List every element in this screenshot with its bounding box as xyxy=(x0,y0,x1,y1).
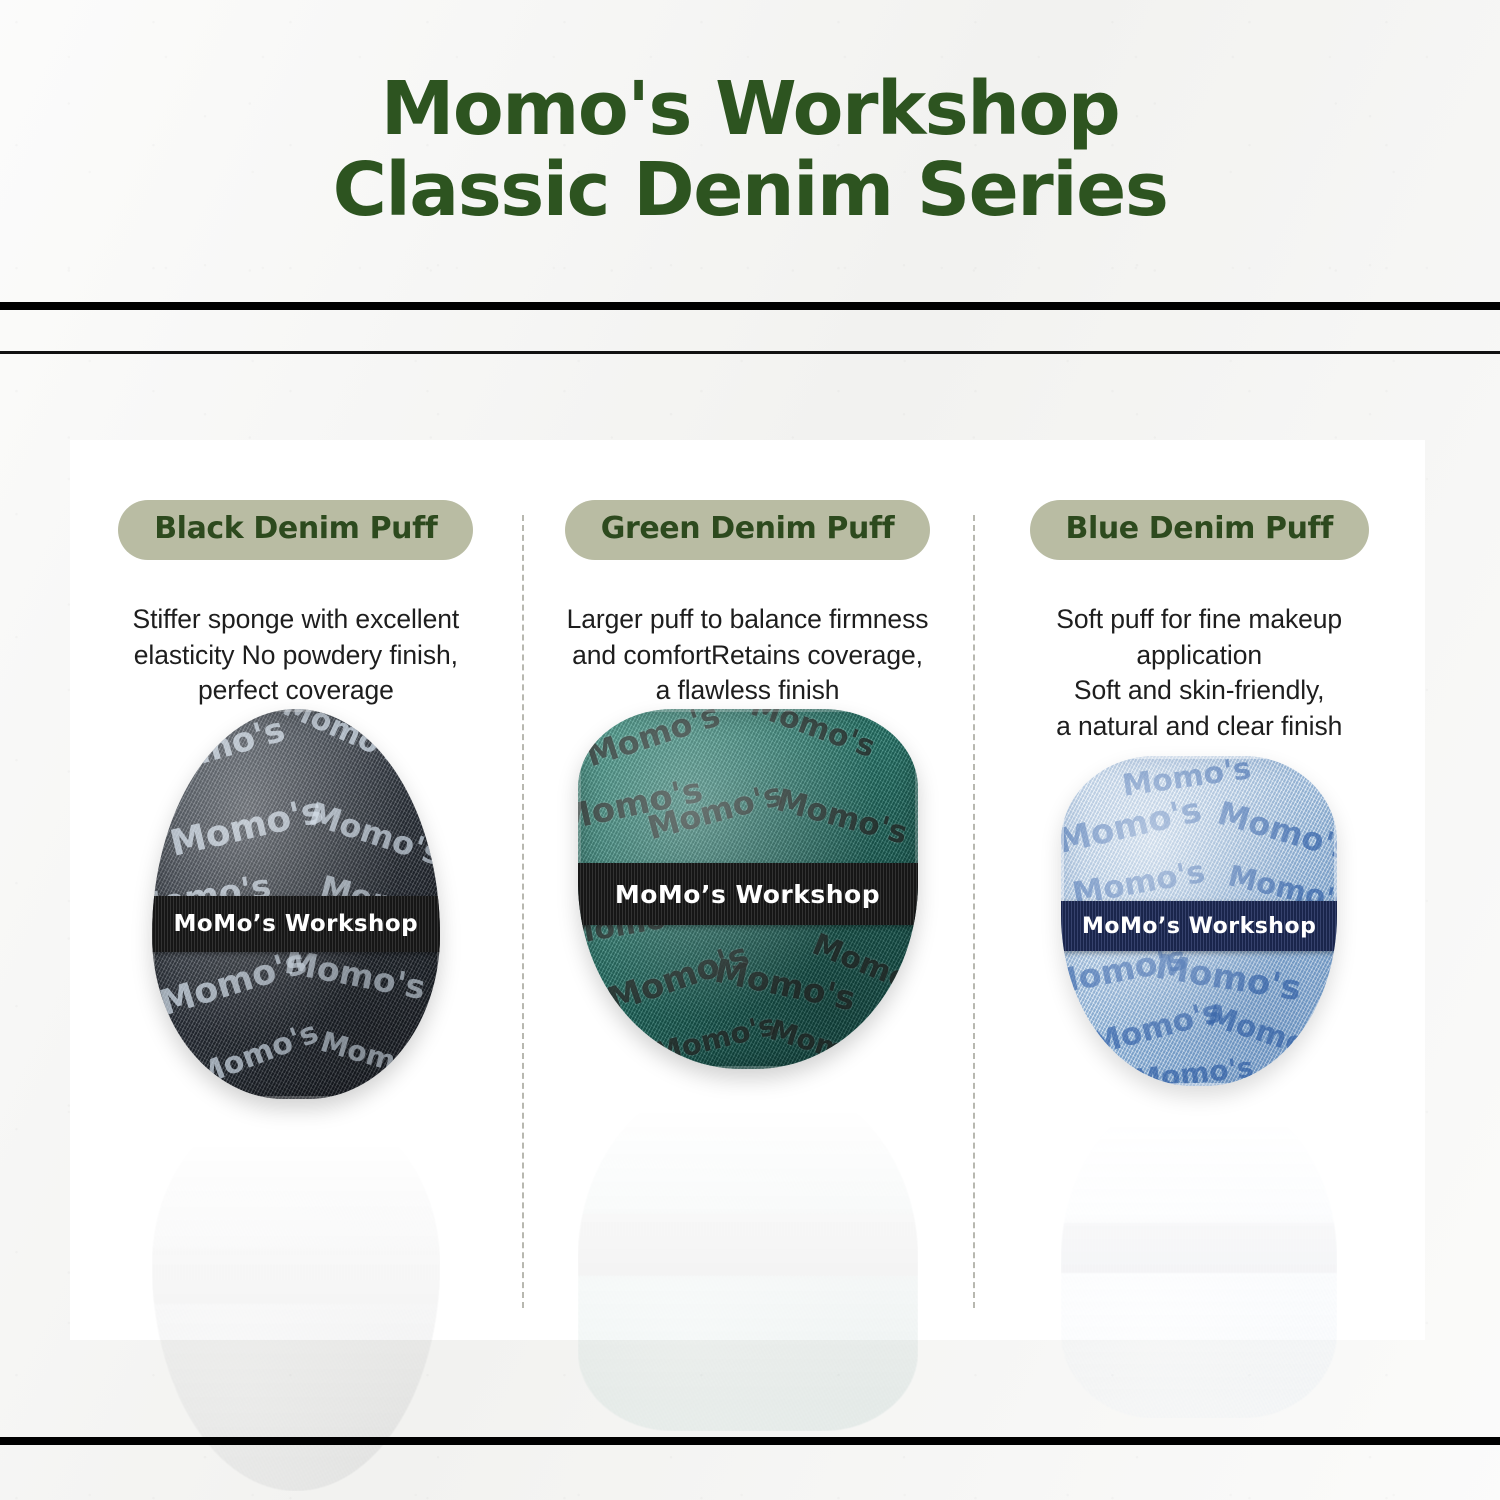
fabric-sheen xyxy=(152,1101,440,1491)
product-image-stage-green: Momo's Momo's Momo's Momo's Momo's Momo'… xyxy=(536,709,960,1347)
product-badge-black: Black Denim Puff xyxy=(118,500,473,560)
puff-reflection-image xyxy=(578,1071,918,1431)
puff-with-reflection-black: Momo's Momo's Momo's Momo's Momo's Momo'… xyxy=(152,709,440,1491)
elastic-band-reflection xyxy=(578,1214,918,1276)
product-badge-green: Green Denim Puff xyxy=(565,500,931,560)
elastic-band-blue: MoMo’s Workshop xyxy=(1061,901,1337,951)
puff-reflection-blue xyxy=(1061,1088,1337,1418)
description-line: elasticity No powdery finish, xyxy=(133,638,460,674)
product-description-blue: Soft puff for fine makeup application So… xyxy=(1056,602,1342,744)
denim-weave-texture xyxy=(152,1101,440,1491)
denim-weave-texture xyxy=(578,1071,918,1431)
puff-reflection-image xyxy=(152,1101,440,1491)
puff-image-green: Momo's Momo's Momo's Momo's Momo's Momo'… xyxy=(578,709,918,1069)
product-description-green: Larger puff to balance firmness and comf… xyxy=(567,602,929,709)
product-column-black[interactable]: Black Denim Puff Stiffer sponge with exc… xyxy=(70,440,522,1340)
puff-with-reflection-green: Momo's Momo's Momo's Momo's Momo's Momo'… xyxy=(578,709,918,1431)
band-brand-label: MoMo’s Workshop xyxy=(1082,914,1316,939)
description-line: Larger puff to balance firmness xyxy=(567,602,929,638)
elastic-band-green: MoMo’s Workshop xyxy=(578,863,918,925)
title-line-1: Momo's Workshop xyxy=(333,69,1168,150)
description-line: Stiffer sponge with excellent xyxy=(133,602,460,638)
divider-rule-second xyxy=(0,351,1500,354)
band-brand-label: MoMo’s Workshop xyxy=(615,880,880,909)
fabric-sheen xyxy=(1061,1088,1337,1418)
band-brand-label: MoMo’s Workshop xyxy=(174,911,419,937)
product-column-green[interactable]: Green Denim Puff Larger puff to balance … xyxy=(522,440,974,1340)
puff-image-black: Momo's Momo's Momo's Momo's Momo's Momo'… xyxy=(152,709,440,1099)
puff-reflection-image xyxy=(1061,1088,1337,1418)
product-description-black: Stiffer sponge with excellent elasticity… xyxy=(133,602,460,709)
elastic-band-reflection xyxy=(1061,1223,1337,1273)
description-line: a flawless finish xyxy=(567,673,929,709)
description-line: a natural and clear finish xyxy=(1056,709,1342,745)
elastic-band-black: MoMo’s Workshop xyxy=(152,896,440,952)
divider-rule-top xyxy=(0,302,1500,310)
fabric-sheen xyxy=(578,1071,918,1431)
description-line: Soft puff for fine makeup xyxy=(1056,602,1342,638)
product-comparison-card: Black Denim Puff Stiffer sponge with exc… xyxy=(70,440,1425,1340)
description-line: Soft and skin-friendly, xyxy=(1056,673,1342,709)
puff-reflection-green xyxy=(578,1071,918,1431)
puff-with-reflection-blue: Momo's Momo's Momo's Momo's Momo's Momo'… xyxy=(1061,756,1337,1418)
description-line: application xyxy=(1056,638,1342,674)
divider-rule-bottom xyxy=(0,1437,1500,1445)
puff-reflection-black xyxy=(152,1101,440,1491)
product-badge-blue: Blue Denim Puff xyxy=(1030,500,1369,560)
title-line-2: Classic Denim Series xyxy=(333,150,1168,231)
product-columns: Black Denim Puff Stiffer sponge with exc… xyxy=(70,440,1425,1340)
denim-weave-texture xyxy=(1061,1088,1337,1418)
description-line: and comfortRetains coverage, xyxy=(567,638,929,674)
page-title: Momo's Workshop Classic Denim Series xyxy=(333,69,1168,232)
description-line: perfect coverage xyxy=(133,673,460,709)
header: Momo's Workshop Classic Denim Series xyxy=(0,0,1500,300)
product-image-stage-black: Momo's Momo's Momo's Momo's Momo's Momo'… xyxy=(84,709,508,1391)
elastic-band-reflection xyxy=(152,1247,440,1303)
product-column-blue[interactable]: Blue Denim Puff Soft puff for fine makeu… xyxy=(973,440,1425,1340)
product-image-stage-blue: Momo's Momo's Momo's Momo's Momo's Momo'… xyxy=(987,744,1411,1340)
puff-image-blue: Momo's Momo's Momo's Momo's Momo's Momo'… xyxy=(1061,756,1337,1086)
